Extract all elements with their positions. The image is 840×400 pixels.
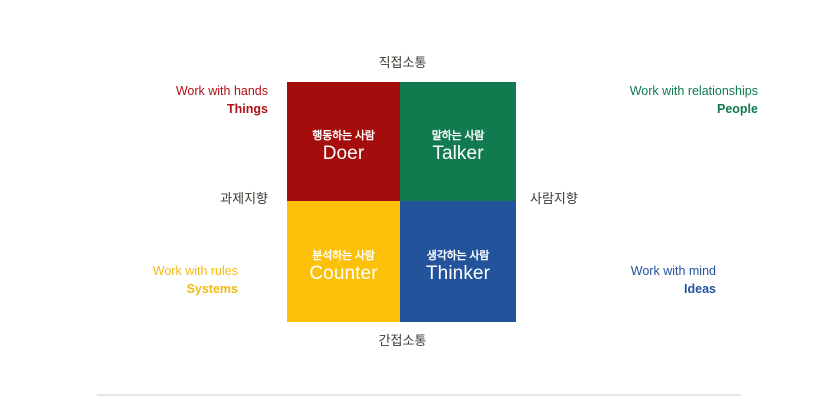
corner-label-people-line2: People [538, 100, 758, 118]
quadrant-talker-english: Talker [432, 144, 484, 164]
quadrant-thinker[interactable]: 생각하는 사람 Thinker [400, 201, 516, 322]
quadrant-counter-english: Counter [309, 264, 377, 284]
corner-label-ideas-line2: Ideas [538, 280, 716, 298]
quadrant-counter-korean: 분석하는 사람 [309, 251, 377, 263]
axis-label-right: 사람지향 [530, 188, 578, 207]
quadrant-counter[interactable]: 분석하는 사람 Counter [287, 201, 400, 322]
axis-label-top: 직접소통 [0, 52, 805, 71]
axis-label-bottom: 간접소통 [0, 330, 805, 349]
quadrant-doer[interactable]: 행동하는 사람 Doer [287, 82, 400, 201]
axis-label-left: 과제지향 [150, 188, 268, 207]
quadrant-doer-korean: 행동하는 사람 [312, 131, 374, 143]
quadrant-talker[interactable]: 말하는 사람 Talker [400, 82, 516, 201]
corner-label-ideas: Work with mind Ideas [538, 262, 716, 298]
quadrant-talker-korean: 말하는 사람 [432, 131, 484, 143]
corner-label-things-line2: Things [60, 100, 268, 118]
corner-label-systems: Work with rules Systems [60, 262, 238, 298]
quadrant-doer-english: Doer [312, 144, 374, 164]
corner-label-people-line1: Work with relationships [538, 82, 758, 100]
corner-label-people: Work with relationships People [538, 82, 758, 118]
corner-label-things-line1: Work with hands [60, 82, 268, 100]
corner-label-things: Work with hands Things [60, 82, 268, 118]
quadrant-thinker-korean: 생각하는 사람 [426, 251, 490, 263]
quadrant-matrix: 행동하는 사람 Doer 말하는 사람 Talker 분석하는 사람 Count… [287, 82, 516, 322]
diagram-canvas: 직접소통 과제지향 사람지향 간접소통 Work with hands Thin… [0, 0, 840, 400]
corner-label-systems-line1: Work with rules [60, 262, 238, 280]
quadrant-thinker-english: Thinker [426, 264, 490, 284]
corner-label-ideas-line1: Work with mind [538, 262, 716, 280]
corner-label-systems-line2: Systems [60, 280, 238, 298]
bottom-divider [97, 394, 741, 396]
